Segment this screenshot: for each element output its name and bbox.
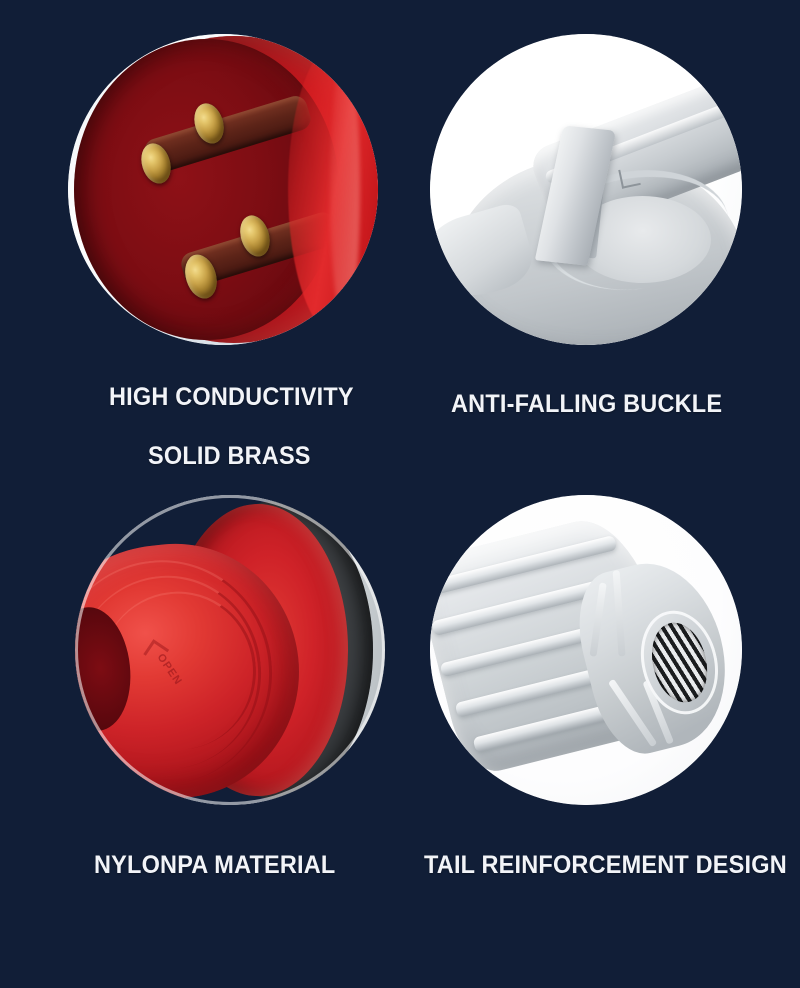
feature-image-tail-reinforcement	[430, 495, 742, 805]
feature-image-nylonpa-material: OPEN	[75, 495, 385, 805]
cone-fin	[590, 583, 607, 658]
caption-anti-falling-buckle: ANTI-FALLING BUCKLE	[451, 390, 722, 419]
photo-inner	[68, 34, 378, 345]
feature-image-high-conductivity	[68, 34, 378, 345]
feature-image-anti-falling-buckle	[430, 34, 742, 345]
photo-inner	[430, 34, 742, 345]
cone-fin	[613, 570, 626, 656]
caption-tail-reinforcement-design: TAIL REINFORCEMENT DESIGN	[424, 851, 787, 880]
infographic-page: OPEN HIGH CONDU	[0, 0, 800, 988]
caption-high-conductivity: HIGH CONDUCTIVITY	[109, 383, 354, 412]
plug-red-body	[84, 36, 379, 344]
caption-solid-brass: SOLID BRASS	[148, 442, 311, 471]
photo-white-rim	[75, 495, 385, 805]
photo-inner	[430, 495, 742, 805]
photo-inner: OPEN	[75, 495, 385, 805]
plug-flange-highlight	[330, 54, 360, 325]
caption-nylonpa-material: NYLONPA MATERIAL	[94, 851, 335, 880]
